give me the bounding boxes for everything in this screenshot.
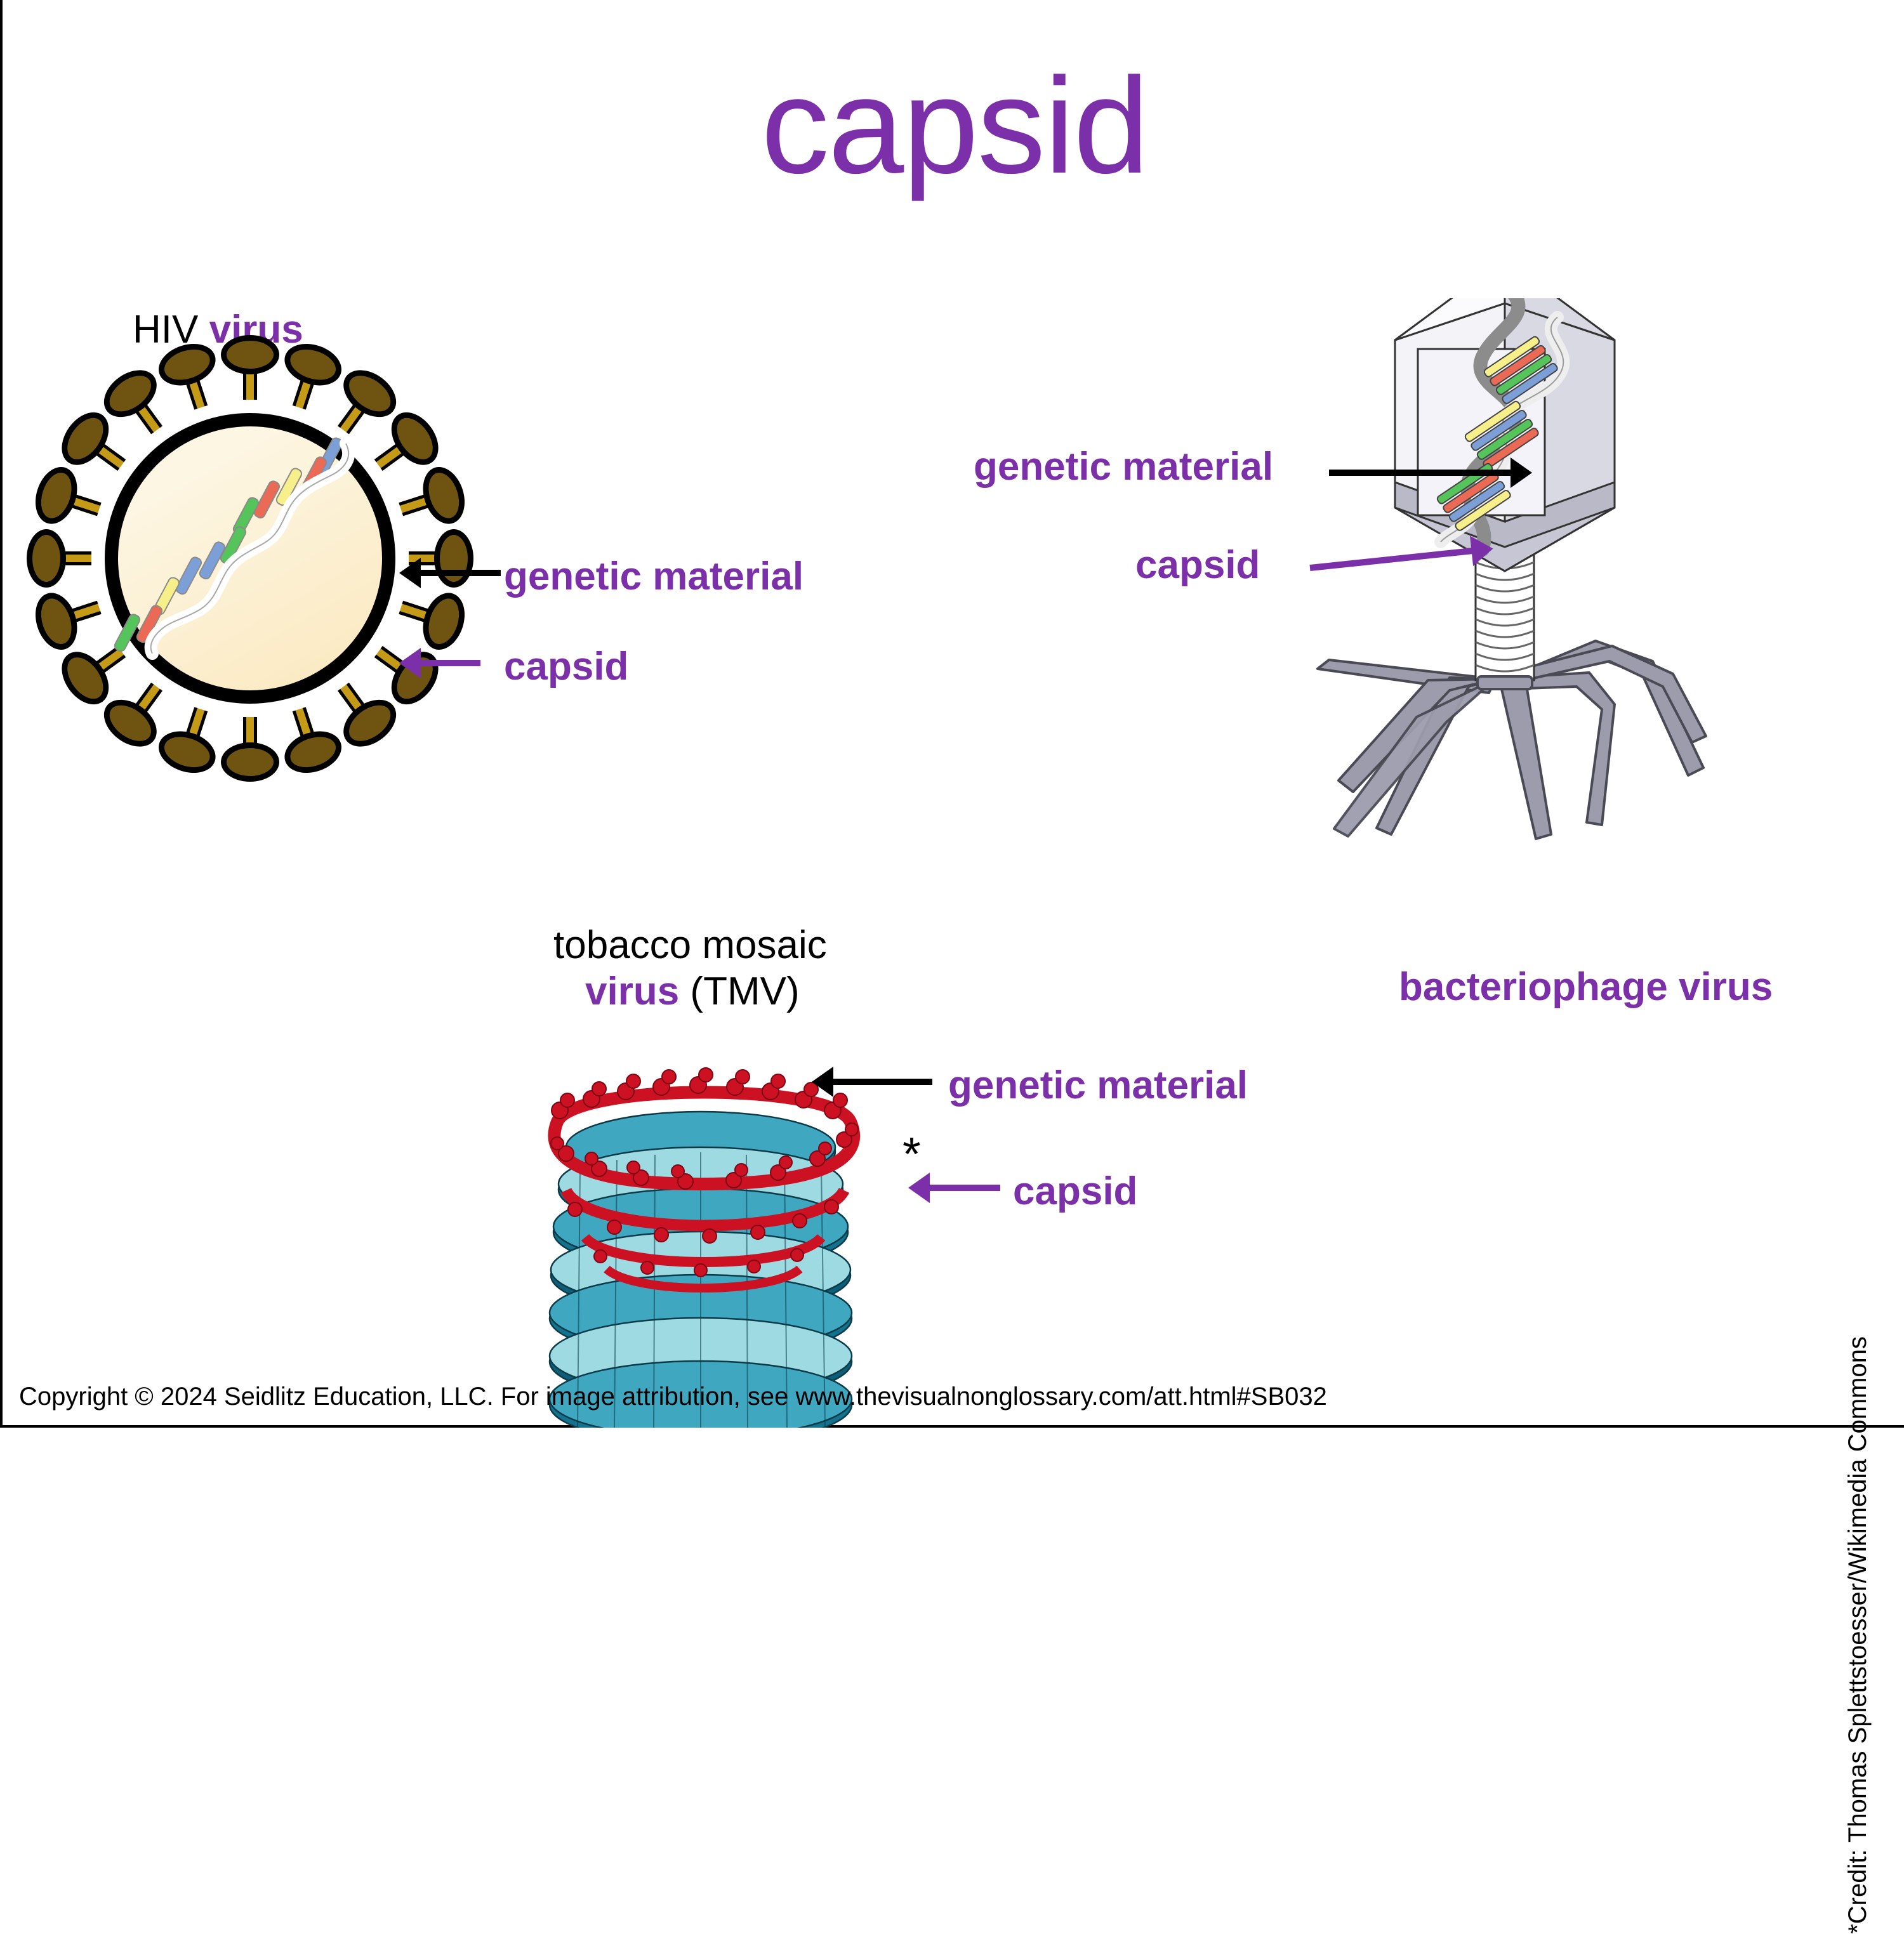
arrow-shaft bbox=[1329, 470, 1516, 476]
rna-bases bbox=[113, 437, 343, 653]
hiv-capsid-label: capsid bbox=[504, 644, 628, 689]
arrow-shaft bbox=[416, 660, 480, 666]
phage-baseplate bbox=[1478, 676, 1532, 689]
copyright-footer: Copyright © 2024 Seidlitz Education, LLC… bbox=[19, 1383, 1327, 1411]
tmv-svg bbox=[491, 1047, 948, 1428]
tmv-genetic-material-label: genetic material bbox=[948, 1063, 1248, 1108]
rna-backbone bbox=[151, 444, 348, 654]
hiv-virus-diagram bbox=[47, 355, 453, 761]
arrow-shaft bbox=[925, 1185, 1000, 1191]
poster-canvas: capsid HIV virus bbox=[3, 0, 1904, 1425]
page-title: capsid bbox=[3, 57, 1904, 194]
image-credit: *Credit: Thomas Splettstoesser/Wikimedia… bbox=[1844, 1336, 1872, 1934]
bacteriophage-svg bbox=[1259, 298, 1904, 996]
phage-genetic-material-label: genetic material bbox=[974, 444, 1273, 489]
tmv-capsid-label: capsid bbox=[1013, 1169, 1137, 1214]
tmv-caption-abbrev: (TMV) bbox=[679, 970, 799, 1013]
tmv-caption-line2: virus (TMV) bbox=[585, 970, 800, 1013]
hiv-caption: HIV virus bbox=[133, 308, 303, 352]
hiv-rna-strand bbox=[47, 355, 453, 761]
arrow-shaft bbox=[828, 1079, 932, 1085]
bacteriophage-caption: bacteriophage virus bbox=[1399, 964, 1773, 1010]
tmv-asterisk-marker: * bbox=[902, 1131, 921, 1178]
phage-capsid-label: capsid bbox=[1135, 543, 1260, 588]
bacteriophage-diagram bbox=[1259, 298, 1904, 996]
tmv-caption-line1: tobacco mosaic bbox=[553, 923, 827, 967]
hiv-genetic-material-label: genetic material bbox=[504, 554, 803, 599]
arrow-shaft bbox=[416, 570, 501, 576]
tmv-diagram bbox=[491, 1047, 948, 1428]
tmv-caption-highlight: virus bbox=[585, 970, 679, 1013]
